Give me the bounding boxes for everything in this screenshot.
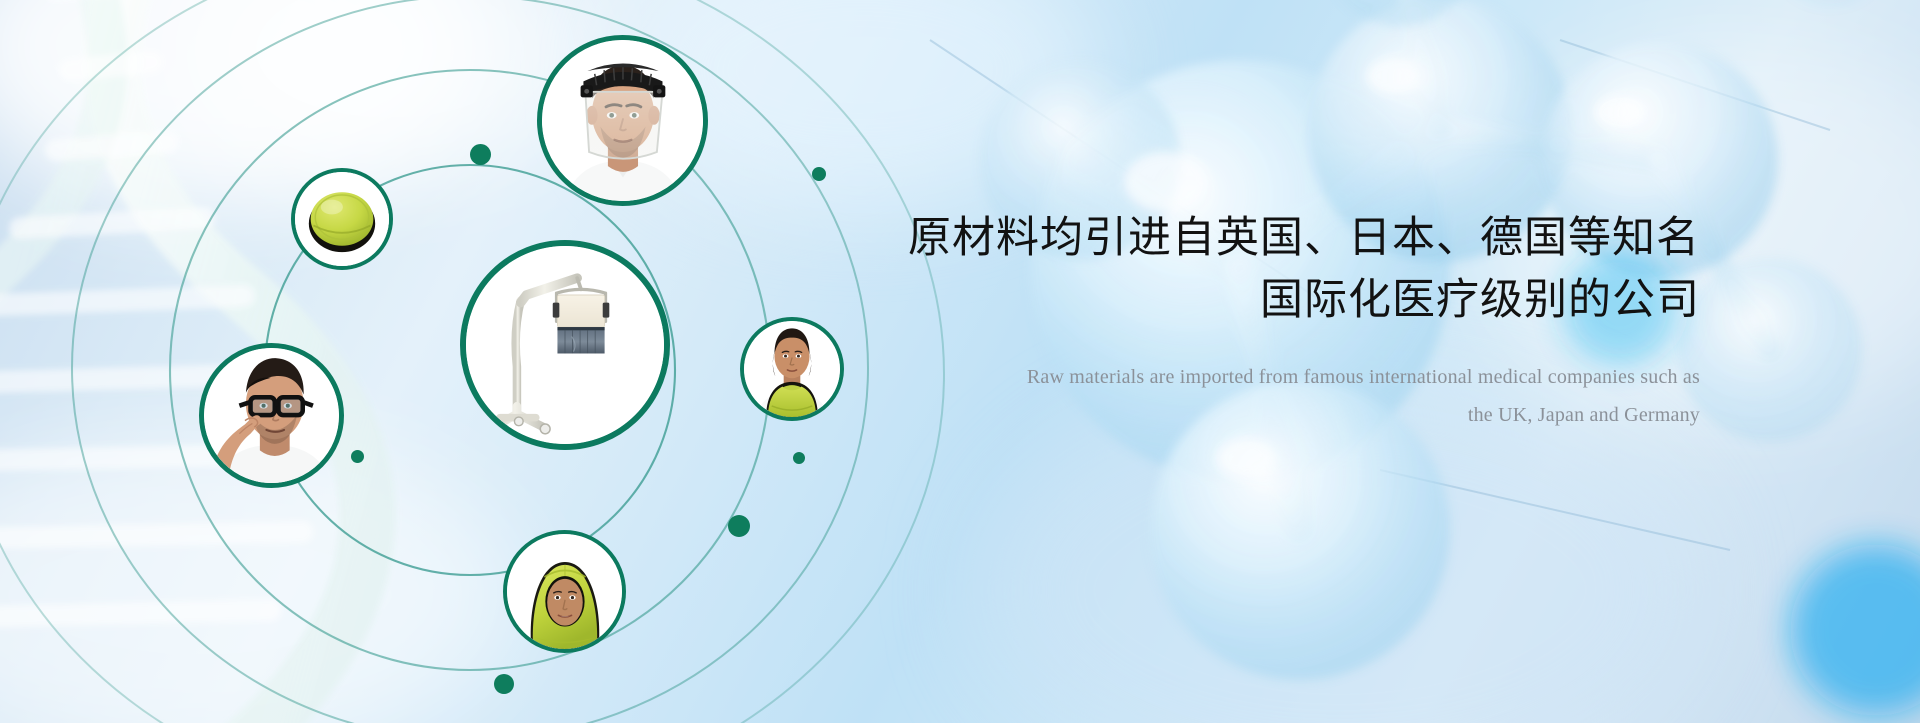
mobile-radiation-shield-icon bbox=[466, 246, 664, 444]
subtitle-line-1: Raw materials are imported from famous i… bbox=[880, 358, 1700, 396]
page-title: 原材料均引进自英国、日本、德国等知名 国际化医疗级别的公司 bbox=[880, 208, 1700, 332]
media-bubble-lead-hood[interactable] bbox=[503, 530, 626, 653]
orbit-node-dot bbox=[494, 674, 514, 694]
lead-protection-cap-icon bbox=[295, 172, 389, 266]
media-bubble-radiation-shield[interactable] bbox=[460, 240, 670, 450]
banner-copy: 原材料均引进自英国、日本、德国等知名 国际化医疗级别的公司 Raw materi… bbox=[880, 208, 1700, 434]
orbit-node-dot bbox=[728, 515, 750, 537]
woman-wearing-lead-hood-icon bbox=[507, 534, 622, 649]
media-bubble-lead-glasses[interactable] bbox=[199, 343, 344, 488]
man-wearing-lead-glasses-icon bbox=[204, 348, 339, 483]
headline-line-1: 原材料均引进自英国、日本、德国等知名 bbox=[908, 214, 1700, 262]
media-bubble-lead-cap[interactable] bbox=[291, 168, 393, 270]
man-wearing-face-shield-icon bbox=[542, 40, 703, 201]
hero-banner: 原材料均引进自英国、日本、德国等知名 国际化医疗级别的公司 Raw materi… bbox=[0, 0, 1920, 723]
headline-line-2: 国际化医疗级别的公司 bbox=[880, 270, 1700, 332]
woman-wearing-thyroid-collar-icon bbox=[744, 321, 840, 417]
banner-subtitle: Raw materials are imported from famous i… bbox=[880, 358, 1700, 434]
subtitle-line-2: the UK, Japan and Germany bbox=[880, 396, 1700, 434]
orbit-node-dot bbox=[470, 144, 491, 165]
media-bubble-thyroid-collar[interactable] bbox=[740, 317, 844, 421]
media-bubble-faceshield[interactable] bbox=[537, 35, 708, 206]
orbit-node-dot bbox=[793, 452, 805, 464]
orbit-node-dot bbox=[812, 167, 826, 181]
orbit-node-dot bbox=[351, 450, 364, 463]
